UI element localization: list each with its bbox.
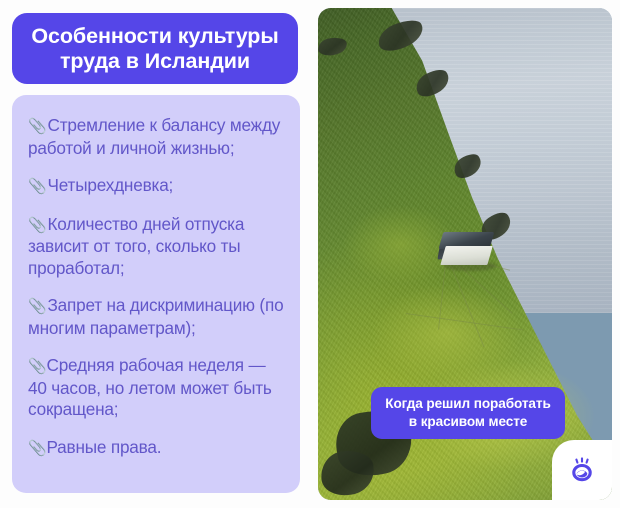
logo-badge[interactable] — [560, 448, 604, 492]
paperclip-icon: 📎 — [28, 118, 46, 135]
list-item: 📎Равные права. — [28, 437, 286, 460]
photo-caption-text: Когда решил поработать в красивом месте — [381, 395, 555, 430]
page-title: Особенности культуры труда в Исландии — [31, 24, 278, 74]
eye-logo-icon — [567, 455, 597, 485]
photo-caption: Когда решил поработать в красивом месте — [371, 387, 565, 439]
list-item: 📎Количество дней отпуска зависит от того… — [28, 214, 286, 280]
poster-root: Особенности культуры труда в Исландии 📎С… — [0, 0, 620, 508]
paperclip-icon: 📎 — [28, 217, 46, 234]
paperclip-icon: 📎 — [28, 178, 46, 195]
list-item-text: Запрет на дискриминацию (по многим парам… — [28, 295, 283, 338]
list-item: 📎Запрет на дискриминацию (по многим пара… — [28, 295, 286, 339]
list-item-text: Четырехдневка; — [47, 175, 173, 195]
paperclip-icon: 📎 — [28, 298, 46, 315]
list-item-text: Равные права. — [46, 437, 161, 457]
house-wall — [440, 246, 492, 265]
list-item-text: Количество дней отпуска зависит от того,… — [28, 214, 244, 278]
list-item: 📎Четырехдневка; — [28, 175, 286, 198]
facts-panel: 📎Стремление к балансу между работой и ли… — [12, 95, 300, 493]
left-column: Особенности культуры труда в Исландии 📎С… — [0, 0, 310, 508]
paperclip-icon: 📎 — [28, 358, 46, 375]
list-item-text: Стремление к балансу между работой и лич… — [28, 115, 280, 158]
paperclip-icon: 📎 — [28, 440, 46, 457]
list-item-text: Средняя рабочая неделя — 40 часов, но ле… — [28, 355, 272, 419]
title-banner: Особенности культуры труда в Исландии — [12, 13, 298, 84]
photo-card: Когда решил поработать в красивом месте — [318, 8, 612, 500]
list-item: 📎Средняя рабочая неделя — 40 часов, но л… — [28, 355, 286, 421]
white-house — [439, 232, 495, 266]
list-item: 📎Стремление к балансу между работой и ли… — [28, 115, 286, 159]
